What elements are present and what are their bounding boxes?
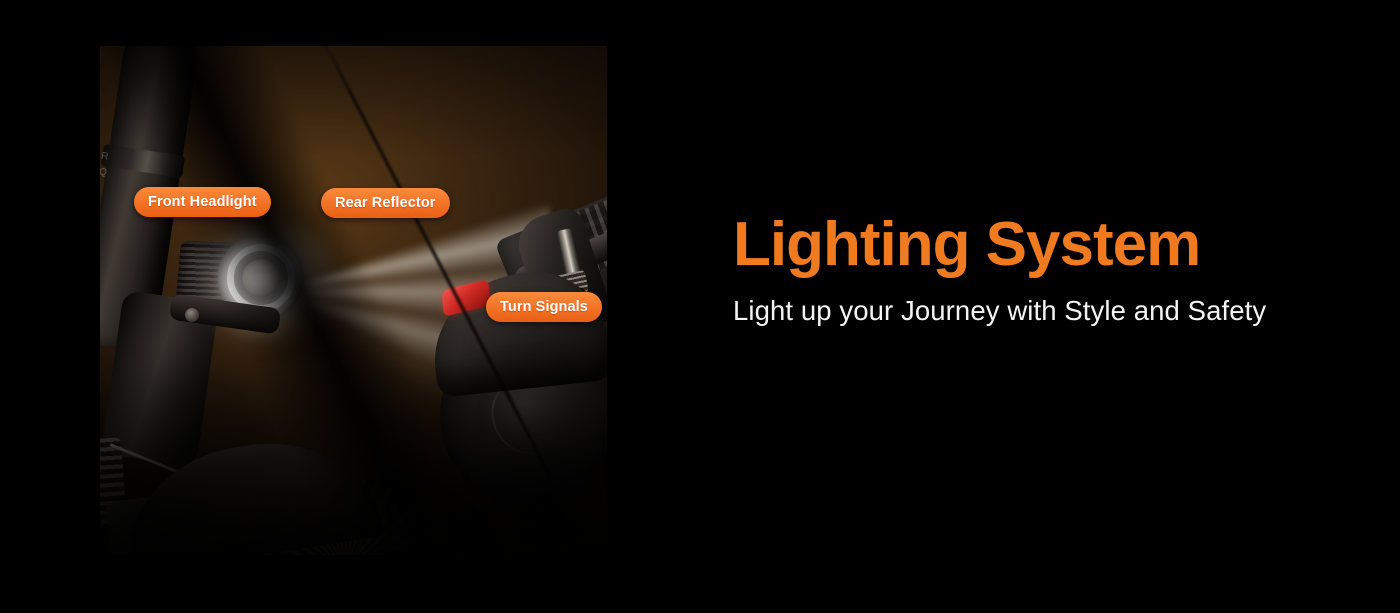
hero-text-block: Lighting System Light up your Journey wi… [733,214,1353,327]
callout-front-headlight-label: Front Headlight [148,194,257,210]
lighting-system-banner: R Q [0,0,1400,613]
callout-rear-reflector-label: Rear Reflector [335,195,436,211]
callout-front-headlight: Front Headlight [134,187,271,217]
product-photo: R Q [100,46,607,555]
hero-headline: Lighting System [733,214,1353,276]
callout-turn-signals: Turn Signals [486,292,602,322]
callout-rear-reflector: Rear Reflector [321,188,450,218]
callout-turn-signals-label: Turn Signals [500,299,588,315]
hero-subheadline: Light up your Journey with Style and Saf… [733,294,1353,327]
